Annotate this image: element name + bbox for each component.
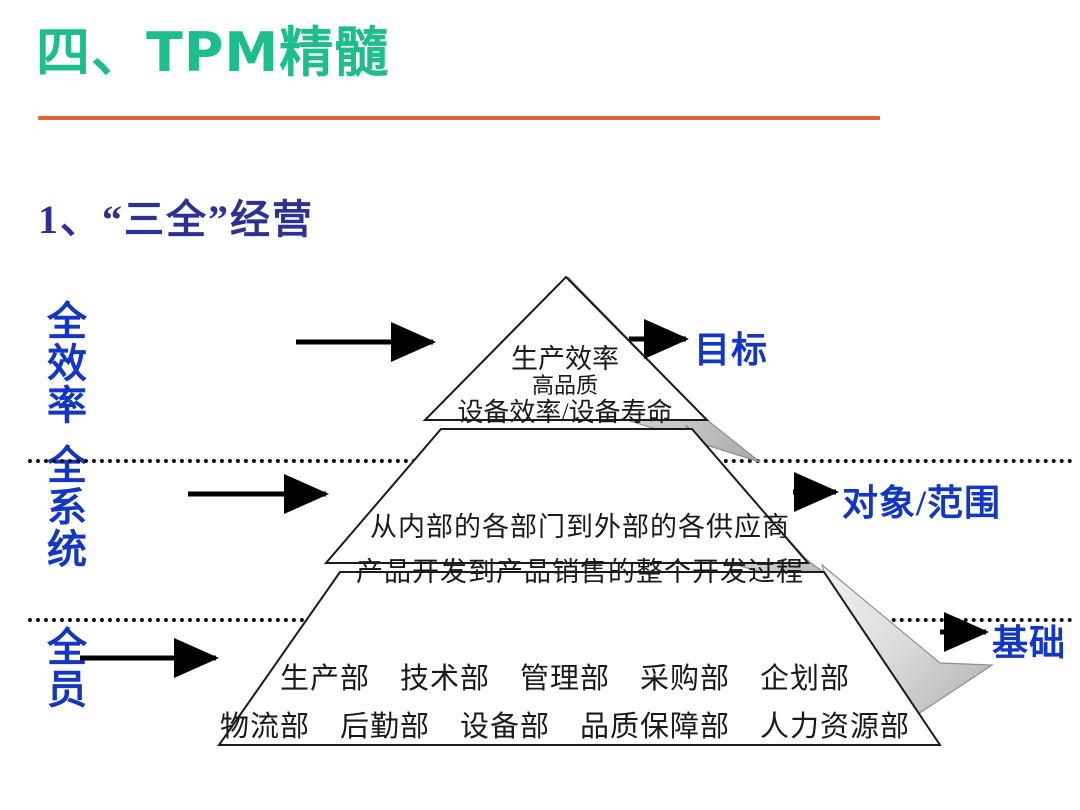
callout-base: 基础 (992, 614, 1066, 666)
slide-canvas: 四、TPM精髓 1、“三全”经营 全效率 全系统 全员 (0, 0, 1080, 810)
callout-scope: 对象/范围 (842, 474, 1001, 526)
callout-goal: 目标 (694, 321, 768, 373)
middle-tier-line-1: 从内部的各部门到外部的各供应商 (300, 505, 860, 544)
top-tier-line-3: 设备效率/设备寿命 (360, 392, 770, 429)
bottom-tier-line-2: 物流部 后勤部 设备部 品质保障部 人力资源部 (190, 703, 940, 745)
middle-tier-line-2: 产品开发到产品销售的整个开发过程 (280, 550, 880, 589)
bottom-tier-line-1: 生产部 技术部 管理部 采购部 企划部 (220, 655, 910, 697)
